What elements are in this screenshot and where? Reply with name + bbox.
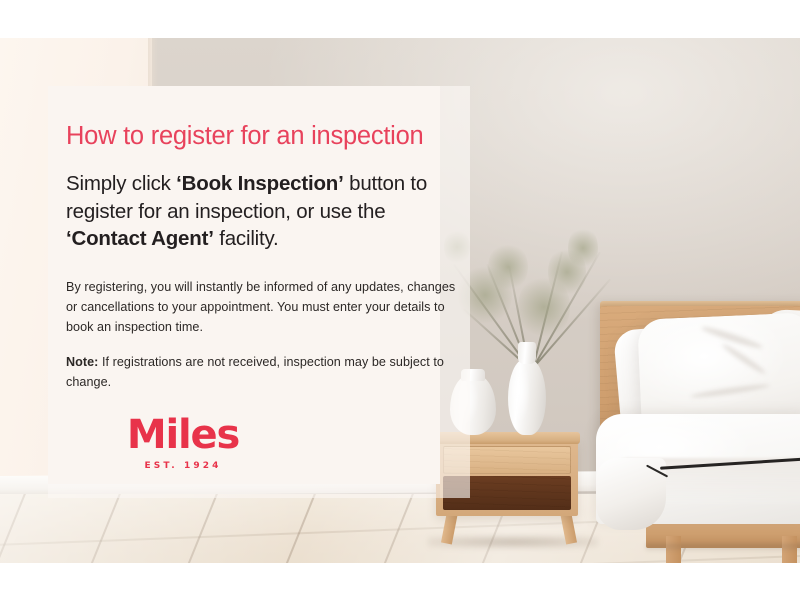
page-title: How to register for an inspection	[66, 122, 462, 150]
brand-logo: Miles EST. 1924	[66, 415, 300, 471]
information-card: How to register for an inspection Simply…	[48, 86, 470, 498]
lead-part-1: Simply click	[66, 172, 176, 195]
lead-instruction: Simply click ‘Book Inspection’ button to…	[66, 170, 462, 252]
vase-tall-neck	[518, 342, 536, 364]
card-content: How to register for an inspection Simply…	[66, 86, 462, 471]
lead-part-3: facility.	[214, 227, 279, 250]
screenshot-canvas: How to register for an inspection Simply…	[0, 0, 800, 600]
book-inspection-label: ‘Book Inspection’	[176, 172, 343, 195]
bedroom-scene-image: How to register for an inspection Simply…	[0, 38, 800, 563]
logo-established-text: EST. 1924	[66, 461, 300, 471]
card-translucent-bottom-edge	[48, 484, 440, 498]
registration-info-paragraph: By registering, you will instantly be in…	[66, 278, 462, 338]
note-paragraph: Note: If registrations are not received,…	[66, 353, 462, 393]
contact-agent-label: ‘Contact Agent’	[66, 227, 214, 250]
bed-shadow	[646, 544, 800, 552]
note-text: If registrations are not received, inspe…	[66, 355, 444, 389]
vase-tall	[508, 359, 546, 435]
note-label: Note:	[66, 355, 98, 369]
logo-wordmark: Miles	[66, 415, 300, 455]
